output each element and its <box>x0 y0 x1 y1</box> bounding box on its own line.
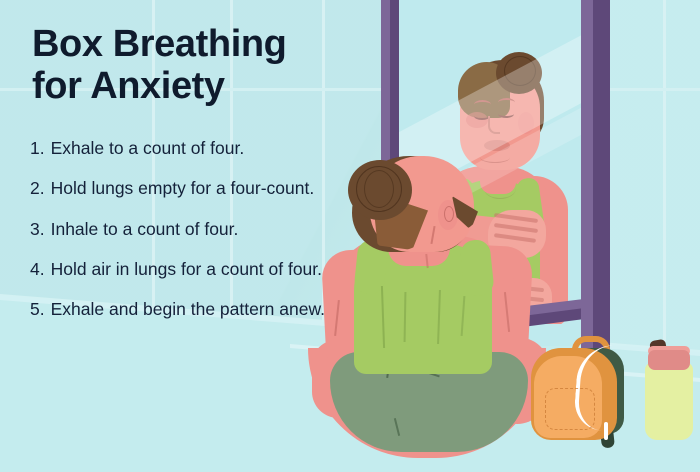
bottle-body <box>645 362 693 440</box>
mirror-frame-right-shadow <box>593 0 610 390</box>
list-item: 4. Hold air in lungs for a count of four… <box>30 259 356 279</box>
step-number: 5. <box>30 299 45 319</box>
step-number: 2. <box>30 178 45 198</box>
step-text: Exhale to a count of four. <box>51 138 356 158</box>
list-item: 3. Inhale to a count of four. <box>30 219 356 239</box>
mirror-frame-right <box>581 0 593 390</box>
list-item: 2. Hold lungs empty for a four-count. <box>30 178 356 198</box>
page-title-line-2: for Anxiety <box>32 66 372 108</box>
list-item: 5. Exhale and begin the pattern anew. <box>30 299 356 319</box>
step-text: Hold lungs empty for a four-count. <box>51 178 356 198</box>
woman-hair-bun-highlight <box>364 170 394 208</box>
woman-ear-inner <box>444 206 454 222</box>
steps-list: 1. Exhale to a count of four. 2. Hold lu… <box>30 138 356 339</box>
backpack-pocket-stitching <box>545 388 595 430</box>
infographic-canvas: Box Breathing for Anxiety 1. Exhale to a… <box>0 0 700 472</box>
step-text: Exhale and begin the pattern anew. <box>51 299 356 319</box>
step-number: 4. <box>30 259 45 279</box>
step-text: Inhale to a count of four. <box>51 219 356 239</box>
step-text: Hold air in lungs for a count of four. <box>51 259 356 279</box>
page-title-line-1: Box Breathing <box>32 24 372 66</box>
backpack-zipper-pull <box>604 422 608 440</box>
list-item: 1. Exhale to a count of four. <box>30 138 356 158</box>
step-number: 1. <box>30 138 45 158</box>
step-number: 3. <box>30 219 45 239</box>
bottle-cap <box>648 350 690 370</box>
page-title: Box Breathing for Anxiety <box>32 24 372 108</box>
